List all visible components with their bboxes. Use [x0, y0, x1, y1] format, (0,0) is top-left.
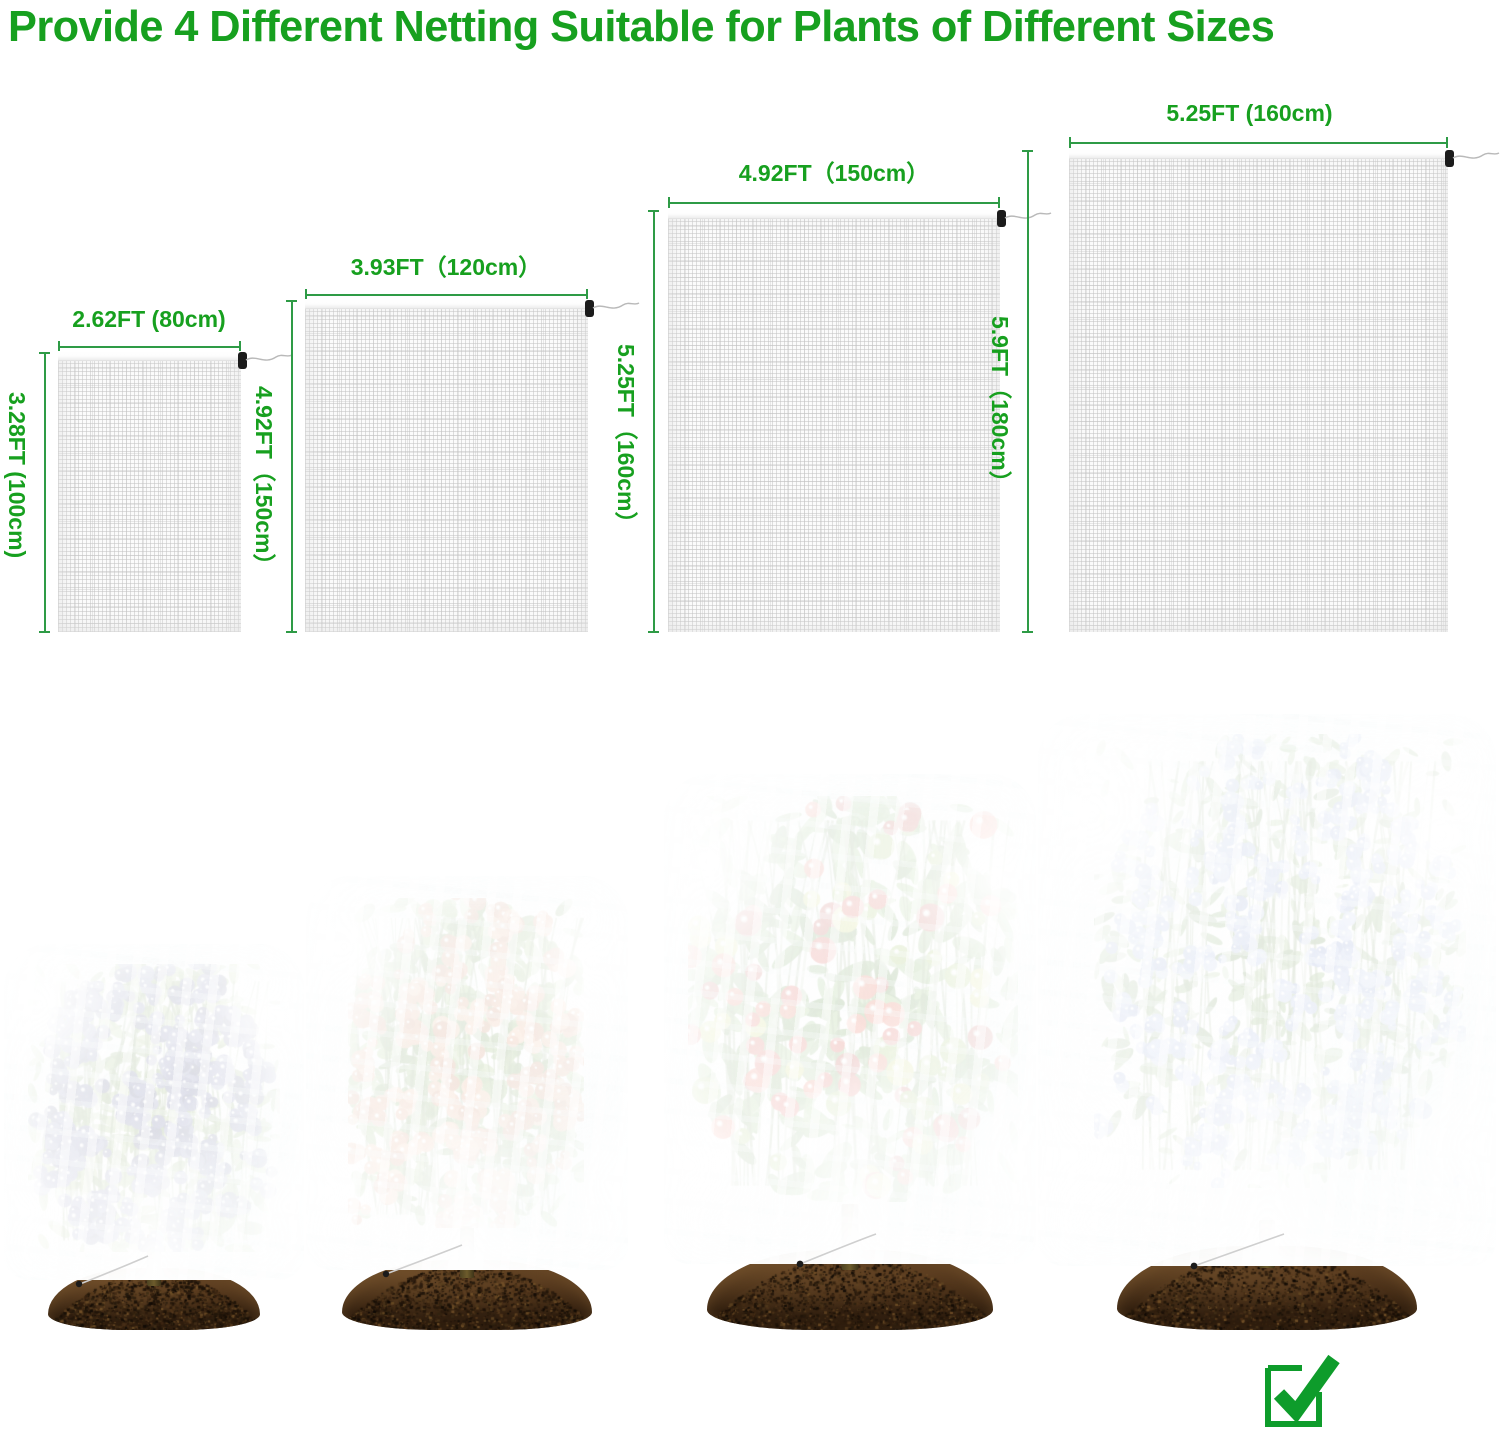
hem-strip-3	[668, 209, 1000, 219]
covered-plant-1	[4, 930, 304, 1330]
netting-4-width-dimension-line	[1069, 137, 1448, 148]
netting-3-height-dimension-line	[648, 210, 659, 633]
netting-2-height-dimension-line	[286, 300, 297, 633]
mesh-texture-1	[58, 351, 241, 632]
netting-sheet-4	[1069, 149, 1448, 632]
netting-1-width-label: 2.62FT (80cm)	[50, 306, 248, 332]
netting-cover-4	[1038, 714, 1496, 1266]
covered-plant-4	[1038, 700, 1496, 1330]
netting-sheet-2	[305, 299, 588, 632]
page-title: Provide 4 Different Netting Suitable for…	[8, 0, 1470, 56]
netting-sheet-1	[58, 351, 241, 632]
netting-cover-1	[4, 944, 304, 1280]
drawstring-cord-4	[1453, 150, 1499, 166]
netting-2-width-label: 3.93FT（120cm）	[296, 254, 596, 280]
mesh-texture-3	[668, 209, 1000, 632]
netting-size-diagrams: 2.62FT (80cm) 3.28FT (100cm) 3.93FT（120c…	[0, 60, 1500, 660]
drawstring-cord-2	[593, 300, 639, 316]
covered-plant-2	[306, 860, 628, 1330]
covered-plant-examples	[0, 690, 1500, 1330]
netting-4-width-label: 5.25FT (160cm)	[1062, 100, 1437, 126]
netting-1-height-label: 3.28FT (100cm)	[4, 392, 30, 558]
infographic-page: Provide 4 Different Netting Suitable for…	[0, 0, 1500, 1437]
netting-1-height-dimension-line	[39, 352, 50, 633]
netting-3-width-label: 4.92FT（150cm）	[660, 160, 1008, 186]
mesh-texture-2	[305, 299, 588, 632]
hem-strip-2	[305, 299, 588, 309]
netting-3-height-label: 5.25FT（160cm）	[613, 344, 639, 534]
netting-2-height-label: 4.92FT（150cm）	[251, 386, 277, 576]
covered-plant-3	[664, 760, 1036, 1330]
hem-strip-4	[1069, 149, 1448, 159]
green-checkbox-check-icon	[1262, 1352, 1340, 1430]
netting-4-height-dimension-line	[1022, 150, 1033, 633]
hem-strip-1	[58, 351, 241, 361]
netting-cover-2	[306, 876, 628, 1270]
netting-4-height-label: 5.9FT（180cm）	[987, 316, 1013, 494]
netting-cover-3	[664, 774, 1036, 1264]
mesh-texture-4	[1069, 149, 1448, 632]
netting-3-width-dimension-line	[668, 197, 1000, 208]
netting-sheet-3	[668, 209, 1000, 632]
